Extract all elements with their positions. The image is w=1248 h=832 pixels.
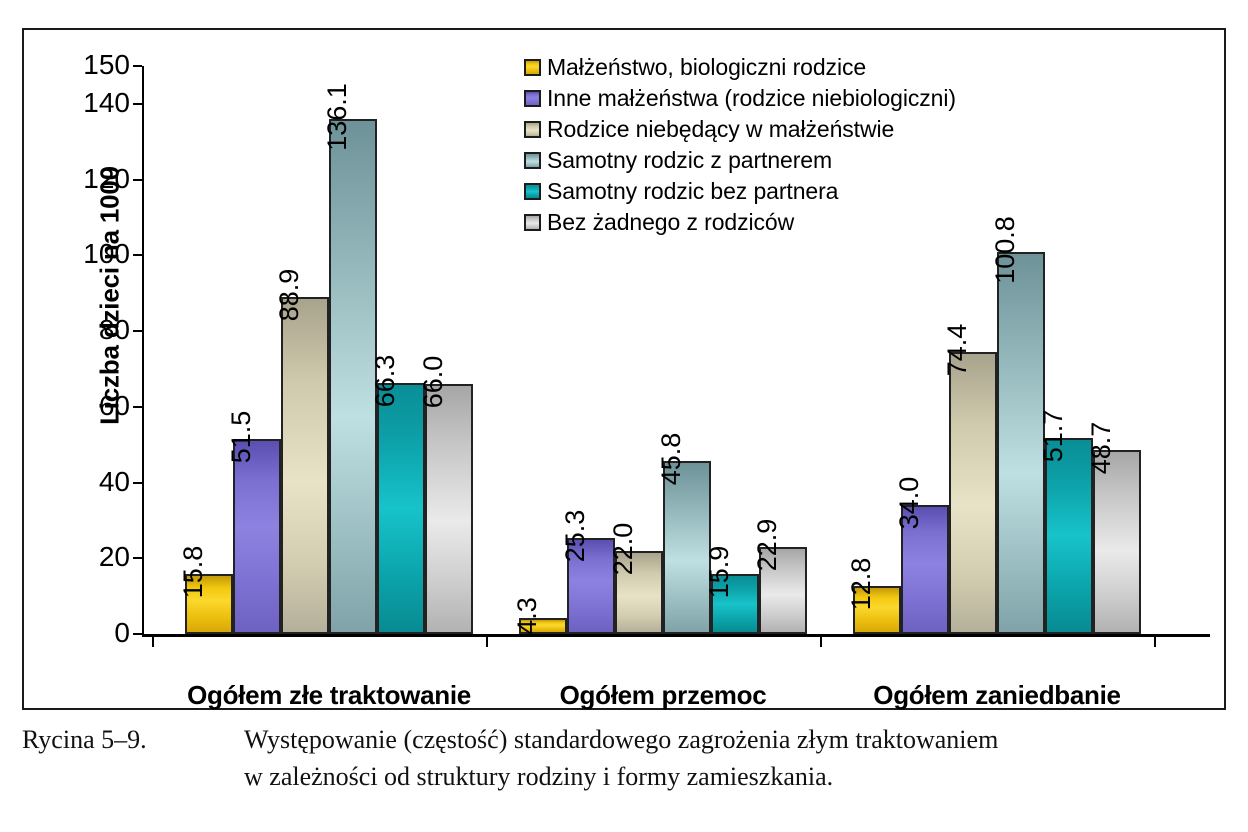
- legend-swatch-cream-icon: [524, 121, 541, 138]
- legend-swatch-purple-icon: [524, 90, 541, 107]
- legend-item[interactable]: Inne małżeństwa (rodzice niebiologiczni): [524, 83, 994, 114]
- legend-item[interactable]: Bez żadnego z rodziców: [524, 207, 994, 238]
- y-tick-label: 20: [10, 541, 130, 573]
- bar[interactable]: 22.0: [615, 551, 663, 634]
- x-axis-group-label: Ogółem zaniedbanie: [840, 680, 1154, 711]
- y-tick-mark: [133, 482, 142, 484]
- bar-value-label: 25.3: [560, 510, 591, 563]
- figure-caption: Rycina 5–9. Występowanie (częstość) stan…: [22, 722, 1232, 796]
- bar-value-label: 12.8: [846, 557, 877, 610]
- bar[interactable]: 15.8: [185, 574, 233, 634]
- caption-text-line1: Występowanie (częstość) standardowego za…: [244, 722, 1232, 759]
- bar-value-label: 45.8: [656, 432, 687, 485]
- bar-value-label: 51.7: [1038, 410, 1069, 463]
- x-axis-group-label: Ogółem złe traktowanie: [172, 680, 486, 711]
- bar-value-label: 74.4: [942, 324, 973, 377]
- bar-value-label: 15.9: [704, 546, 735, 599]
- legend-item[interactable]: Małżeństwo, biologiczni rodzice: [524, 52, 994, 83]
- y-tick-mark: [133, 179, 142, 181]
- legend-label: Bez żadnego z rodziców: [547, 209, 794, 236]
- legend-label: Samotny rodzic bez partnera: [547, 178, 838, 205]
- bar-value-label: 48.7: [1086, 421, 1117, 474]
- bar[interactable]: 12.8: [853, 586, 901, 634]
- bar-value-label: 34.0: [894, 477, 925, 530]
- x-axis-line: [142, 634, 1210, 637]
- y-tick-label: 80: [10, 314, 130, 346]
- bar[interactable]: 34.0: [901, 505, 949, 634]
- bar-value-label: 88.9: [274, 269, 305, 322]
- bar[interactable]: 51.5: [233, 439, 281, 634]
- bar[interactable]: 48.7: [1093, 450, 1141, 634]
- y-tick-label: 60: [10, 390, 130, 422]
- bar-value-label: 51.5: [226, 411, 257, 464]
- x-tick-mark: [486, 635, 488, 647]
- bar[interactable]: 66.3: [377, 383, 425, 634]
- bar[interactable]: 22.9: [759, 547, 807, 634]
- bar-value-label: 136.1: [322, 83, 353, 151]
- chart-frame: Liczba dzieci na 1000 020406080100120140…: [22, 28, 1226, 710]
- bar-value-label: 22.9: [752, 519, 783, 572]
- legend-item[interactable]: Samotny rodzic z partnerem: [524, 145, 994, 176]
- x-tick-mark: [820, 635, 822, 647]
- y-tick-label: 0: [10, 617, 130, 649]
- legend-label: Małżeństwo, biologiczni rodzice: [547, 54, 866, 81]
- x-tick-mark: [1154, 635, 1156, 647]
- legend-swatch-grey-icon: [524, 214, 541, 231]
- bar[interactable]: 4.3: [519, 618, 567, 634]
- legend-item[interactable]: Samotny rodzic bez partnera: [524, 176, 994, 207]
- x-axis-group-label: Ogółem przemoc: [506, 680, 820, 711]
- legend-swatch-tan-icon: [524, 152, 541, 169]
- legend-item[interactable]: Rodzice niebędący w małżeństwie: [524, 114, 994, 145]
- y-tick-label: 150: [10, 49, 130, 81]
- y-tick-label: 100: [10, 238, 130, 270]
- y-tick-mark: [133, 557, 142, 559]
- figure-container: Liczba dzieci na 1000 020406080100120140…: [0, 0, 1248, 832]
- y-tick-mark: [133, 254, 142, 256]
- y-tick-mark: [133, 65, 142, 67]
- y-tick-label: 120: [10, 163, 130, 195]
- bar-value-label: 100.8: [990, 217, 1021, 285]
- caption-number: Rycina 5–9.: [22, 722, 244, 759]
- y-tick-label: 140: [10, 87, 130, 119]
- bar-value-label: 66.0: [418, 356, 449, 409]
- caption-text-line2: w zależności od struktury rodziny i form…: [244, 759, 1232, 796]
- legend-label: Rodzice niebędący w małżeństwie: [547, 116, 894, 143]
- legend-swatch-gold-icon: [524, 59, 541, 76]
- bar[interactable]: 66.0: [425, 384, 473, 634]
- y-tick-label: 40: [10, 466, 130, 498]
- bar-value-label: 15.8: [178, 546, 209, 599]
- x-tick-mark: [152, 635, 154, 647]
- y-tick-mark: [133, 633, 142, 635]
- chart-legend: Małżeństwo, biologiczni rodziceInne małż…: [524, 52, 994, 238]
- bar[interactable]: 15.9: [711, 574, 759, 634]
- bar[interactable]: 88.9: [281, 297, 329, 634]
- legend-label: Samotny rodzic z partnerem: [547, 147, 832, 174]
- legend-swatch-teal-icon: [524, 183, 541, 200]
- bar-value-label: 4.3: [512, 597, 543, 635]
- bar-value-label: 66.3: [370, 355, 401, 408]
- y-tick-mark: [133, 330, 142, 332]
- legend-label: Inne małżeństwa (rodzice niebiologiczni): [547, 85, 956, 112]
- y-tick-mark: [133, 103, 142, 105]
- y-axis-line: [142, 66, 144, 636]
- bar[interactable]: 74.4: [949, 352, 997, 634]
- y-tick-mark: [133, 406, 142, 408]
- bar-value-label: 22.0: [608, 522, 639, 575]
